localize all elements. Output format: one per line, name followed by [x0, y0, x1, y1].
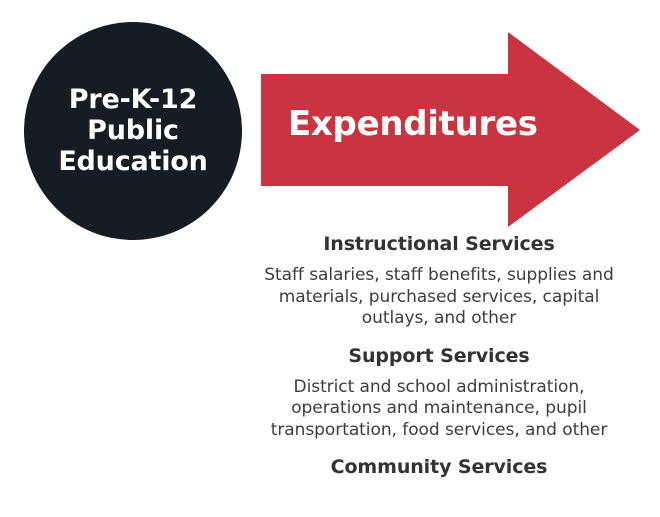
spacer	[238, 330, 640, 344]
category-heading: Support Services	[238, 344, 640, 368]
category-description: Staff salaries, staff benefits, supplies…	[238, 265, 640, 330]
expenditure-categories: Instructional Services Staff salaries, s…	[238, 232, 640, 479]
source-node-label: Pre-K-12 Public Education	[58, 84, 207, 179]
category-item-instructional: Instructional Services Staff salaries, s…	[238, 232, 640, 330]
spacer	[238, 368, 640, 377]
category-heading: Community Services	[238, 455, 640, 479]
category-description: District and school administration, oper…	[238, 377, 640, 442]
category-heading: Instructional Services	[238, 232, 640, 256]
spacer	[238, 441, 640, 455]
expenditures-arrow: Expenditures	[261, 32, 641, 228]
category-item-community: Community Services	[238, 455, 640, 479]
spacer	[238, 256, 640, 265]
source-node-circle: Pre-K-12 Public Education	[24, 22, 242, 240]
diagram-canvas: Pre-K-12 Public Education Expenditures I…	[0, 0, 660, 517]
category-item-support: Support Services District and school adm…	[238, 344, 640, 442]
arrow-label: Expenditures	[288, 104, 548, 144]
